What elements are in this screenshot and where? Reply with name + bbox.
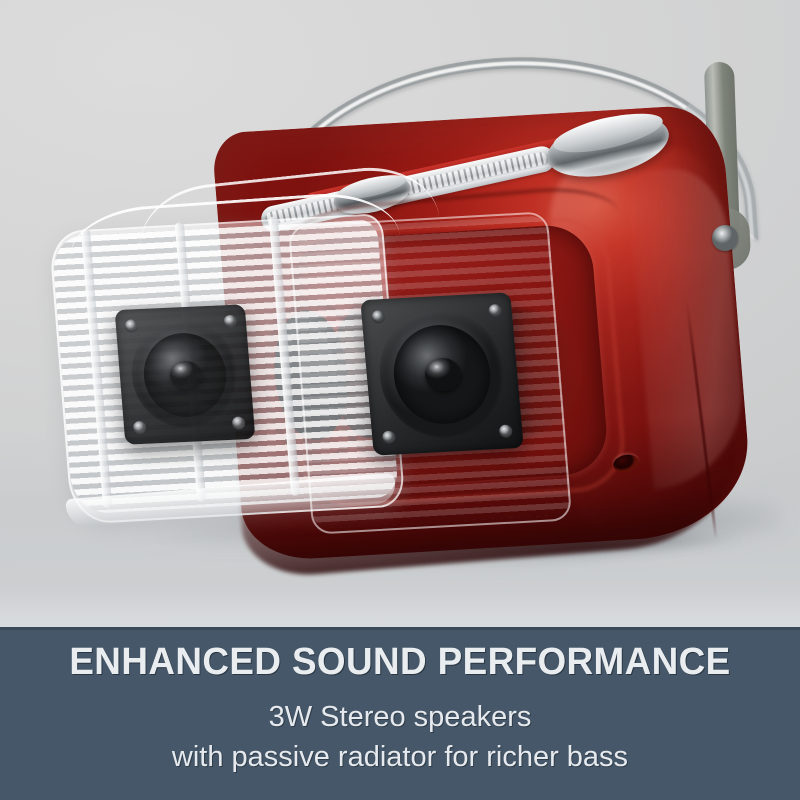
driver-right-screw-tl [371, 310, 385, 324]
driver-right-screw-br [499, 424, 513, 438]
driver-left-screw-tr [223, 315, 237, 329]
product-marketing-image: ENHANCED SOUND PERFORMANCE 3W Stereo spe… [0, 0, 800, 800]
banner-subtitle-line-1: 3W Stereo speakers [0, 697, 800, 737]
banner-subtitle: 3W Stereo speakers with passive radiator… [0, 697, 800, 777]
driver-left-screw-br [232, 416, 246, 430]
driver-left-screw-tl [124, 319, 138, 333]
driver-left-screw-bl [133, 421, 147, 435]
caption-banner: ENHANCED SOUND PERFORMANCE 3W Stereo spe… [0, 627, 800, 800]
front-speaker-driver-right [360, 292, 523, 455]
front-speaker-driver-left [115, 304, 256, 444]
banner-subtitle-line-2: with passive radiator for richer bass [0, 737, 800, 777]
driver-right-screw-bl [382, 431, 396, 445]
carry-handle-pivot-screw [712, 225, 738, 251]
product-photo [0, 0, 800, 627]
speaker-assembly [0, 0, 800, 627]
driver-right-screw-tr [488, 304, 502, 318]
banner-headline: ENHANCED SOUND PERFORMANCE [12, 641, 788, 684]
